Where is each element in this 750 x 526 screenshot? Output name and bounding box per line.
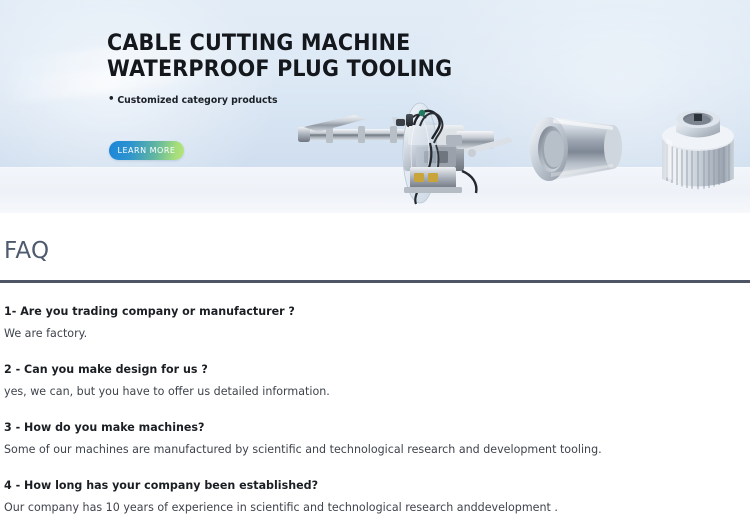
faq-question: 4 - How long has your company been estab… [4,478,720,493]
faq-question: 2 - Can you make design for us ? [4,362,720,377]
banner-headline-line2: WATERPROOF PLUG TOOLING [107,57,452,83]
ribbed-timing-pulley-image [652,99,744,197]
faq-divider [0,280,750,283]
hero-banner: CABLE CUTTING MACHINE WATERPROOF PLUG TO… [0,0,750,213]
learn-more-button[interactable]: LEARN MORE [109,141,184,160]
faq-item: 2 - Can you make design for us ? yes, we… [4,362,746,399]
faq-answer: yes, we can, but you have to offer us de… [4,384,720,399]
faq-item: 3 - How do you make machines? Some of ou… [4,420,746,457]
faq-item: 1- Are you trading company or manufactur… [4,304,746,341]
banner-headline-line1: CABLE CUTTING MACHINE [107,31,410,56]
banner-subheadline: •Customized category products [108,93,278,106]
metal-sleeve-bushing-image [527,107,631,192]
faq-list: 1- Are you trading company or manufactur… [0,304,750,515]
faq-answer: Our company has 10 years of experience i… [4,500,720,515]
faq-answer: Some of our machines are manufactured by… [4,442,720,457]
faq-question: 3 - How do you make machines? [4,420,720,435]
banner-subheadline-text: Customized category products [117,95,277,106]
bullet-icon: • [108,93,115,104]
banner-headline: CABLE CUTTING MACHINE WATERPROOF PLUG TO… [107,31,452,83]
cable-cutting-machine-image [296,101,514,205]
faq-title: FAQ [0,213,750,263]
faq-section: FAQ 1- Are you trading company or manufa… [0,213,750,515]
faq-item: 4 - How long has your company been estab… [4,478,746,515]
faq-answer: We are factory. [4,326,720,341]
faq-question: 1- Are you trading company or manufactur… [4,304,720,319]
